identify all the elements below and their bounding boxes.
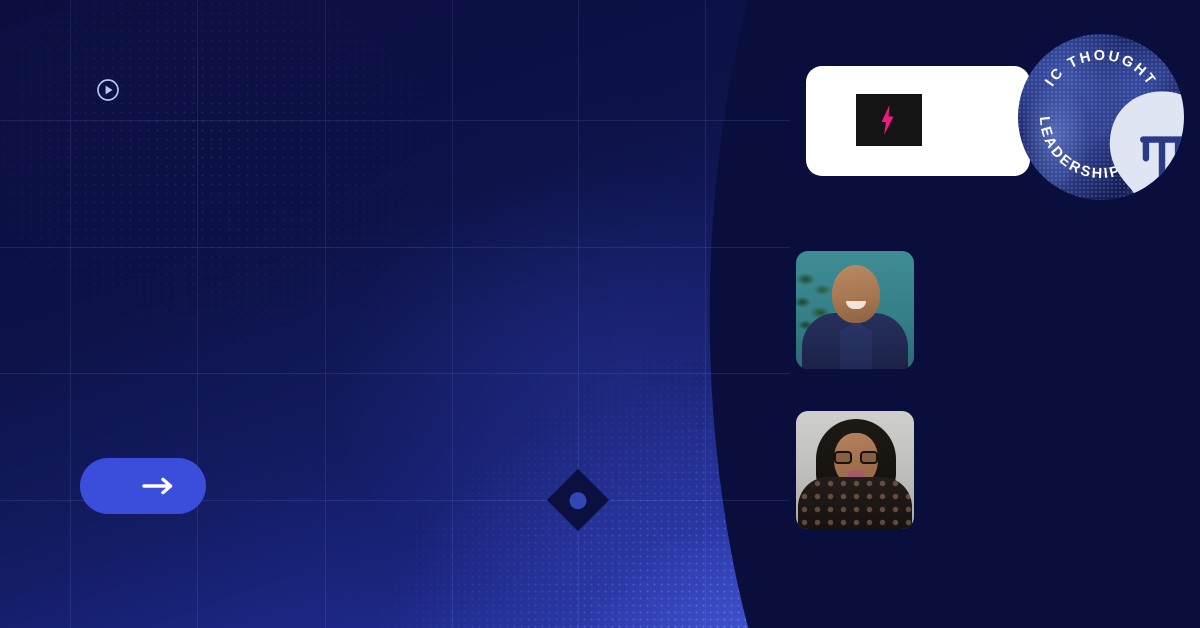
presenter-logos <box>834 94 1030 146</box>
badge-top-arc-text: IC THOUGHT <box>1042 48 1159 90</box>
play-circle-icon <box>96 78 120 102</box>
avatar-glasses <box>834 451 878 464</box>
avatar <box>796 411 914 529</box>
speaker-card-advita-patel <box>796 411 938 529</box>
arrow-right-icon <box>142 476 176 496</box>
diamond-inner-circle <box>570 492 587 509</box>
presented-by-card <box>806 66 1030 176</box>
lightbulb-icon <box>1079 86 1123 148</box>
speaker-card-tarek-kamil <box>796 251 938 369</box>
webinar-promo-canvas: IC THOUGHT LEADERSHIP SERIES <box>0 0 1200 628</box>
avatar-lace-pattern <box>798 477 912 529</box>
commsrebel-logo <box>856 94 922 146</box>
register-now-button[interactable] <box>80 458 206 514</box>
header-eyebrow <box>80 78 148 102</box>
title-block <box>80 188 720 200</box>
ic-thought-leadership-badge: IC THOUGHT LEADERSHIP SERIES <box>1018 34 1184 200</box>
avatar <box>796 251 914 369</box>
lightning-bolt-icon <box>881 105 894 135</box>
svg-text:IC THOUGHT: IC THOUGHT <box>1042 48 1159 90</box>
avatar-head <box>832 265 880 323</box>
